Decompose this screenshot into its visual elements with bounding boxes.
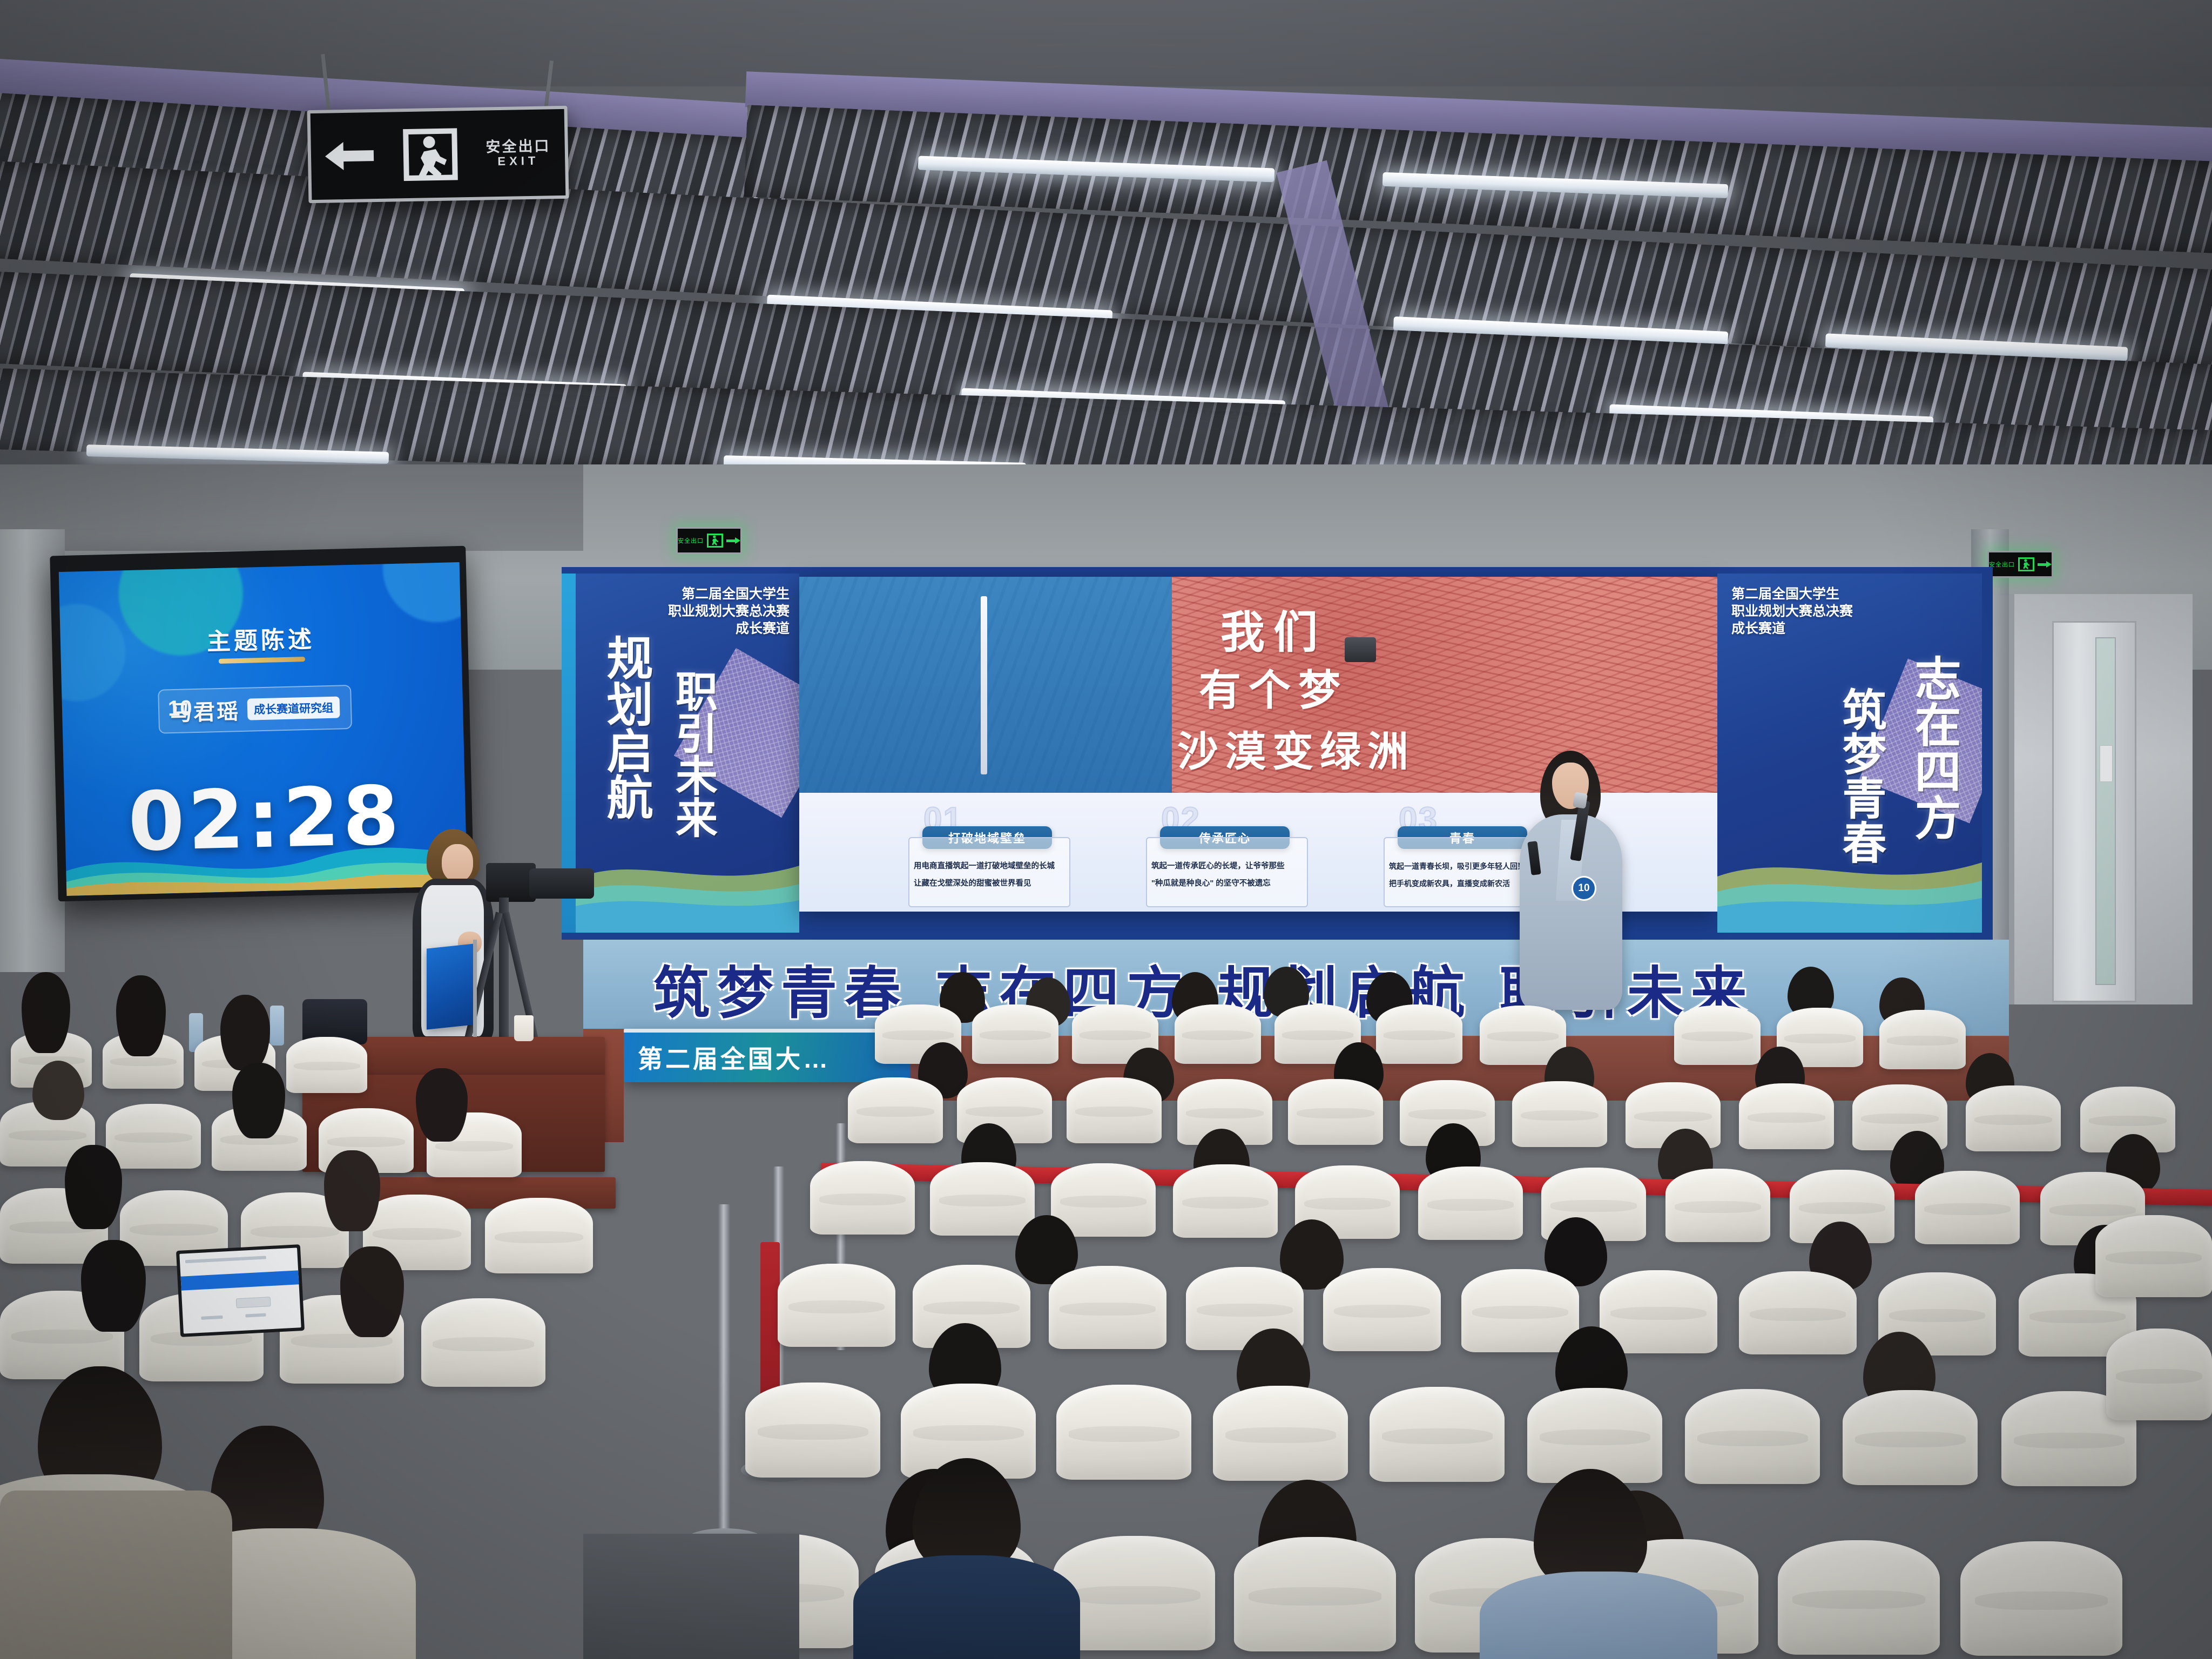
side-attendee-head xyxy=(220,995,270,1070)
laptop-ui-line xyxy=(201,1316,222,1320)
foreground-attendee-hair xyxy=(913,1458,1021,1572)
auditorium-scene: 安全出口 EXIT 安全出口 安全出口 xyxy=(0,0,2212,1659)
water-bottle-1 xyxy=(270,1006,284,1046)
backdrop-panel-left: 第二届全国大学生 职业规划大赛总决赛 成长赛道 规划启航 职引未来 xyxy=(572,574,799,933)
backdrop-left-header-line1: 第二届全国大学生 xyxy=(668,585,790,603)
wall-exit-sign-left: 安全出口 xyxy=(676,527,742,554)
laptop-ui-line xyxy=(245,1313,266,1318)
wall-exit-left-chinese: 安全出口 xyxy=(678,536,704,545)
exit-arrow-left-icon xyxy=(325,139,375,173)
audience-seat xyxy=(972,1004,1058,1064)
backdrop-right-wave xyxy=(1717,825,1982,933)
slide-card-02-body-line2: "种瓜就是种良心" 的坚守不被遗忘 xyxy=(1151,878,1306,889)
right-aisle-seat xyxy=(2095,1215,2212,1297)
audience-seat xyxy=(1778,1540,1940,1655)
backdrop-left-header: 第二届全国大学生 职业规划大赛总决赛 成长赛道 xyxy=(668,585,790,637)
wall-exit-left-door-icon xyxy=(707,534,723,548)
slide-card-02-body-line1: 筑起一道传承匠心的长堤，让爷爷那些 xyxy=(1151,861,1306,872)
backdrop-left-wave xyxy=(572,825,799,933)
ceiling-slab-top xyxy=(0,0,2212,86)
slide-card-02: 02 传承匠心 筑起一道传承匠心的长堤，让爷爷那些 "种瓜就是种良心" 的坚守不… xyxy=(1102,793,1361,912)
audience-seat xyxy=(1665,1169,1770,1242)
exit-door-icon xyxy=(403,128,458,181)
slide-headline-line2: 有个梦 xyxy=(1199,657,1348,717)
audience-seat xyxy=(1370,1387,1505,1482)
side-attendee-seat xyxy=(106,1104,201,1169)
laptop-ui-button xyxy=(236,1297,271,1308)
table-flag-pole xyxy=(473,940,477,1037)
exit-sign-chinese: 安全出口 xyxy=(485,139,550,155)
backdrop-left-header-line3: 成长赛道 xyxy=(668,620,790,637)
audience-seat xyxy=(1175,1004,1261,1064)
audience-seat xyxy=(1049,1266,1166,1349)
videographer-face xyxy=(442,844,473,882)
backdrop-left-header-line2: 职业规划大赛总决赛 xyxy=(668,603,790,620)
stanchion-post-1 xyxy=(718,1204,730,1539)
backdrop-left-calligraphy-col1: 规划启航 xyxy=(598,634,650,820)
side-attendee-seat xyxy=(421,1298,545,1387)
foreground-attendee-center xyxy=(886,1458,1102,1659)
audience-seat xyxy=(1879,1010,1966,1069)
floor xyxy=(583,1534,799,1659)
wall-exit-right-door-icon xyxy=(2018,557,2034,571)
draped-coat xyxy=(0,1491,232,1659)
side-attendee-head xyxy=(116,975,166,1056)
audience-seat xyxy=(1323,1268,1441,1351)
side-attendee-head xyxy=(65,1145,122,1229)
audience-seat xyxy=(1213,1386,1348,1481)
backdrop-panel-right: 第二届全国大学生 职业规划大赛总决赛 成长赛道 筑梦青春 志在四方 xyxy=(1717,574,1982,933)
wall-exit-left-arrow-icon xyxy=(726,537,740,544)
side-attendee-head xyxy=(340,1246,404,1337)
foreground-attendee-right xyxy=(1501,1469,1728,1659)
audience-seat xyxy=(930,1162,1035,1236)
timer-section-title: 主题陈述 xyxy=(60,616,461,660)
backdrop-right-header-line3: 成长赛道 xyxy=(1731,620,1853,637)
presenter: 10 xyxy=(1507,751,1631,1010)
audience-seat xyxy=(1739,1271,1857,1354)
audience-seat xyxy=(1915,1171,2020,1244)
wall-exit-sign-right: 安全出口 xyxy=(1987,551,2053,578)
audience-seat xyxy=(1067,1077,1162,1143)
audience-seat xyxy=(1173,1164,1278,1238)
laptop-screen xyxy=(179,1247,301,1333)
backdrop-right-calligraphy-col2: 志在四方 xyxy=(1906,655,1958,840)
dslr-camera-body xyxy=(486,863,536,902)
slide-card-01: 01 打破地域壁垒 用电商直播筑起一道打破地域壁垒的长城 让藏在戈壁深处的甜蜜被… xyxy=(864,793,1123,912)
slide-hand-object xyxy=(981,596,987,774)
audience-seat xyxy=(1376,1004,1462,1064)
timer-title-underline xyxy=(219,657,305,664)
wall-band-left xyxy=(0,464,583,551)
slide-headline-line1: 我们 xyxy=(1220,596,1326,660)
audience-seat xyxy=(1418,1166,1523,1240)
wall-exit-right-chinese: 安全出口 xyxy=(1989,560,2015,569)
side-attendee-seat xyxy=(485,1198,593,1273)
slide-headline-line3: 沙漠变绿洲 xyxy=(1177,718,1415,778)
backdrop-left-calligraphy-col2: 职引未来 xyxy=(669,670,716,838)
audience-seat xyxy=(1674,1006,1761,1065)
presenter-contestant-badge: 10 xyxy=(1572,876,1596,901)
audience-seat xyxy=(1960,1541,2122,1656)
microphone-head xyxy=(1573,792,1588,808)
side-attendee-head xyxy=(22,972,70,1053)
exit-sign-text: 安全出口 EXIT xyxy=(485,139,551,168)
right-door-leaf[interactable] xyxy=(2052,621,2136,1002)
audience-seat xyxy=(848,1077,943,1143)
table-flag xyxy=(427,943,474,1029)
hanging-exit-sign: 安全出口 EXIT xyxy=(307,106,569,203)
backdrop-right-header: 第二届全国大学生 职业规划大赛总决赛 成长赛道 xyxy=(1731,585,1853,637)
door-sign-label xyxy=(2100,745,2113,782)
audience-seat xyxy=(810,1161,915,1235)
audience-seat xyxy=(1843,1390,1978,1485)
side-attendee-head xyxy=(416,1068,468,1142)
audience-seat xyxy=(1739,1083,1834,1149)
foreground-attendee-right-torso xyxy=(1480,1572,1717,1659)
screen-decor-bubble-2 xyxy=(381,562,467,623)
audience-seat xyxy=(1966,1085,2061,1151)
audience-seat xyxy=(1461,1269,1579,1352)
side-attendee-head xyxy=(324,1150,380,1231)
running-man-icon xyxy=(413,135,451,182)
right-aisle-seat xyxy=(2106,1328,2212,1420)
dslr-camera-lens xyxy=(529,868,594,899)
paper-cup-1 xyxy=(514,1015,534,1041)
slide-sensor-object xyxy=(1345,637,1376,662)
backdrop-right-header-line1: 第二届全国大学生 xyxy=(1731,585,1853,603)
foreground-attendee-torso xyxy=(853,1555,1080,1659)
right-door-glass xyxy=(2095,637,2116,985)
audience-seat xyxy=(1234,1537,1396,1651)
audience-seat xyxy=(745,1382,880,1478)
audience-seat xyxy=(1288,1079,1383,1145)
foreground-attendee-right-hair xyxy=(1534,1469,1647,1588)
contestant-track-badge: 成长赛道研究组 xyxy=(247,697,340,720)
side-attendee-head xyxy=(81,1240,146,1332)
wall-exit-right-arrow-icon xyxy=(2038,561,2052,568)
audience-seat xyxy=(1512,1081,1607,1147)
exit-sign-english: EXIT xyxy=(486,154,551,167)
contestant-number: 10 xyxy=(167,696,192,721)
slide-card-01-body-line2: 让藏在戈壁深处的甜蜜被世界看见 xyxy=(914,878,1065,889)
slide-card-01-body-line1: 用电商直播筑起一道打破地域壁垒的长城 xyxy=(914,861,1065,872)
laptop-ui-blue-bar xyxy=(180,1270,299,1290)
backdrop-right-header-line2: 职业规划大赛总决赛 xyxy=(1731,603,1853,620)
audience-seat xyxy=(778,1264,895,1347)
side-attendee-head xyxy=(232,1063,285,1138)
side-attendee-seat xyxy=(286,1037,367,1093)
attendee-laptop[interactable] xyxy=(176,1244,305,1337)
laptop-ui-line xyxy=(185,1256,266,1263)
